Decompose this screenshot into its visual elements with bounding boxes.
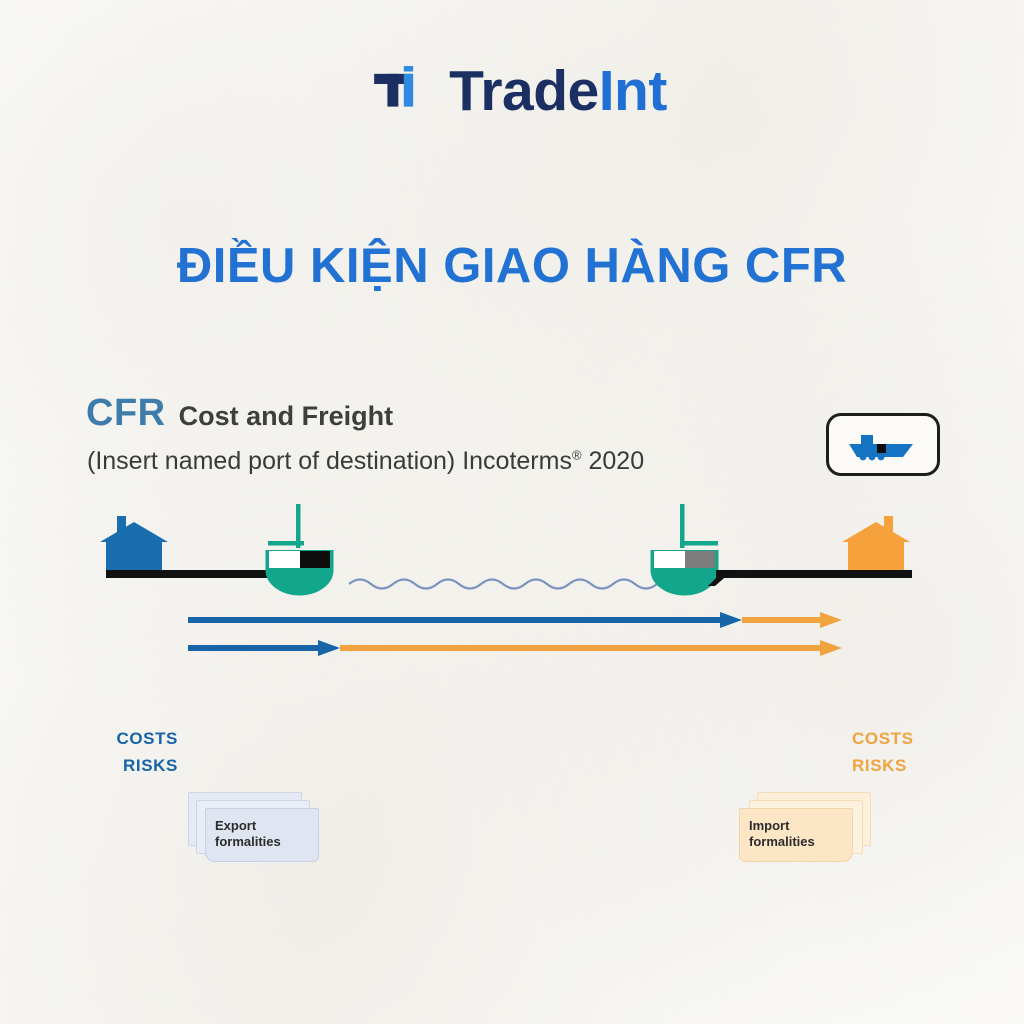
incoterm-subtitle: (Insert named port of destination) Incot… (87, 447, 644, 476)
page-title: ĐIỀU KIỆN GIAO HÀNG CFR (0, 240, 1024, 294)
tradeint-ti-monogram-icon (357, 52, 435, 130)
registered-mark: ® (572, 448, 582, 463)
export-formalities-card: Export formalities (188, 792, 328, 862)
incoterm-code: CFR (86, 392, 166, 435)
brand-wordmark-accent: Int (599, 59, 667, 123)
risks-label-buyer: RISKS (852, 756, 952, 776)
costs-flow-arrow (188, 612, 842, 628)
brand-wordmark-primary: Trade (449, 59, 599, 123)
risks-flow-arrow (188, 640, 842, 656)
risks-label-seller: RISKS (84, 756, 178, 776)
ship-with-grey-container-icon (652, 504, 718, 594)
factory-blue-icon (100, 516, 168, 570)
trade-route-scene: COSTS RISKS COSTS RISKS Export formaliti… (84, 504, 944, 762)
destination-quay (716, 570, 912, 578)
incoterm-name: Cost and Freight (179, 401, 394, 432)
incoterm-heading: CFR Cost and Freight (86, 392, 393, 435)
brand-logo: TradeInt (0, 52, 1024, 130)
transport-mode-badge (826, 413, 940, 476)
incoterm-subtitle-year: 2020 (589, 447, 645, 475)
import-formalities-card: Import formalities (729, 792, 877, 862)
export-formalities-label: Export formalities (215, 818, 281, 851)
trade-route-graphic (84, 504, 944, 762)
costs-label-buyer: COSTS (852, 729, 952, 749)
incoterm-subtitle-prefix: (Insert named port of destination) Incot… (87, 447, 572, 475)
import-formalities-label: Import formalities (749, 818, 815, 851)
cargo-ship-icon (847, 428, 919, 462)
ship-with-black-container-icon (267, 504, 332, 594)
brand-wordmark: TradeInt (449, 63, 667, 120)
wavy-water-line-icon (349, 580, 679, 589)
factory-orange-icon (842, 516, 910, 570)
incoterm-diagram: CFR Cost and Freight (Insert named port … (84, 392, 944, 762)
costs-label-seller: COSTS (84, 729, 178, 749)
